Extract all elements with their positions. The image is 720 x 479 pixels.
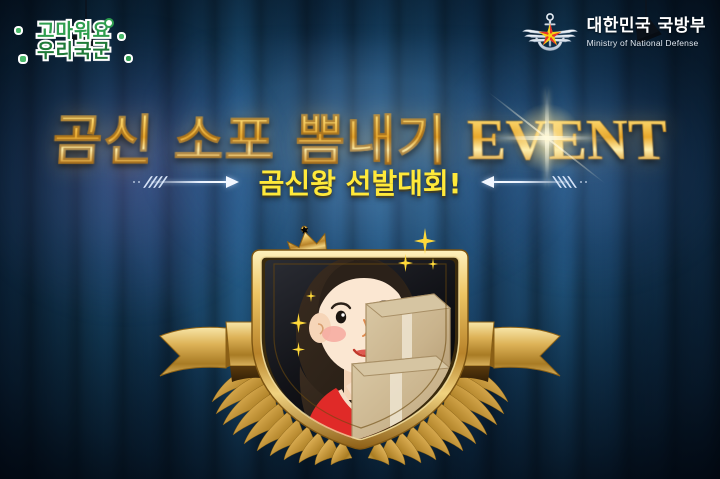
ministry-of-national-defense-logo[interactable]: 대한민국 국방부 Ministry of National Defense <box>522 10 706 56</box>
logo-dot <box>20 56 26 62</box>
ministry-title-ko: 대한민국 국방부 <box>587 18 706 36</box>
logo-line-1: 고마워요 <box>37 22 111 41</box>
ministry-label-group: 대한민국 국방부 Ministry of National Defense <box>587 18 706 48</box>
ministry-title-en: Ministry of National Defense <box>587 38 706 48</box>
logo-dot <box>119 34 124 39</box>
subtitle-text: 곰신왕 선발대회! <box>259 162 462 202</box>
logo-dot <box>16 28 21 33</box>
shield-crest <box>150 216 570 472</box>
logo-dot <box>126 56 131 61</box>
subtitle-row: 곰신왕 선발대회! <box>0 160 720 204</box>
mnd-emblem-icon <box>522 10 578 56</box>
event-banner: 고마워요 우리국군 <box>0 0 720 479</box>
arrow-right-icon <box>133 174 245 190</box>
thank-you-armed-forces-logo[interactable]: 고마워요 우리국군 <box>14 12 134 70</box>
arrow-left-icon <box>475 174 587 190</box>
logo-line-2: 우리국군 <box>37 42 111 61</box>
logo-dot <box>106 20 112 26</box>
